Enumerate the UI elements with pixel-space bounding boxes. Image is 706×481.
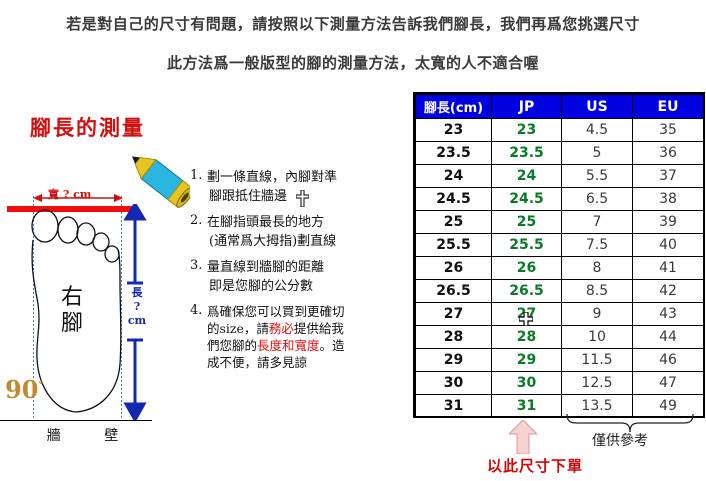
step-4-line-2: 的size，請務必提供給我 [207,320,405,337]
cell-us: 11.5 [562,349,633,372]
cell-us: 7 [562,211,633,234]
cell-foot-length: 28 [416,326,492,349]
table-row: 2525739 [416,211,704,234]
cell-foot-length: 29 [416,349,492,372]
header-line-2: 此方法爲一般版型的腳的測量方法，太寬的人不適合喔 [0,52,706,73]
length-label: 長 ? cm [126,286,148,328]
header-instructions: 若是對自己的尺寸有問題，請按照以下測量方法告訴我們腳長，我們再爲您挑選尺寸 此方… [0,0,706,73]
step-4-highlight-2: 長度和寬度 [257,338,320,353]
column-header-foot-length: 腳長(cm) [416,95,492,119]
step-item-4: 4. 爲確保您可以買到更確切 的size，請務必提供給我 們您腳的長度和寬度。造… [190,303,405,371]
column-header-us: US [562,95,633,119]
step-3-line-2: 即是您腳的公分數 [207,277,405,296]
cell-jp: 24 [492,165,562,188]
step-item-2: 2. 在腳指頭最長的地方 (通常爲大拇指)劃直線 [190,213,405,251]
table-row: 23.523.5536 [416,142,704,165]
order-note: 以此尺寸下單 [487,455,583,476]
table-header-row: 腳長(cm) JP US EU [416,95,704,119]
crosshair-cursor [519,312,533,326]
cell-eu: 44 [633,326,704,349]
column-header-jp: JP [492,95,562,119]
cell-jp: 31 [492,395,562,418]
step-number-4: 4. [190,303,207,371]
length-label-line-1: 長 [126,286,148,300]
cell-eu: 39 [633,211,704,234]
cell-us: 5 [562,142,633,165]
foot-side-label: 右 腳 [57,285,87,337]
cell-us: 4.5 [562,119,633,142]
cell-eu: 35 [633,119,704,142]
cell-jp: 25 [492,211,562,234]
length-label-line-3: cm [126,314,148,328]
angle-value: 90 [5,375,38,404]
cell-jp: 29 [492,349,562,372]
cell-eu: 36 [633,142,704,165]
table-row: 28281044 [416,326,704,349]
step-3-line-1: 量直線到牆腳的距離 [207,258,405,277]
table-row: 2727943 [416,303,704,326]
up-arrow-icon [509,420,537,454]
step-2-line-2: (通常爲大拇指)劃直線 [207,232,405,251]
step-4-line-3: 們您腳的長度和寬度。造 [207,337,405,354]
cell-eu: 38 [633,188,704,211]
cell-foot-length: 26.5 [416,280,492,303]
cell-us: 5.5 [562,165,633,188]
table-row: 303012.547 [416,372,704,395]
step-number-1: 1. [190,168,207,206]
table-row: 2626841 [416,257,704,280]
diagram-title: 腳長的測量 [30,112,145,142]
wall-baseline [0,420,152,421]
cell-jp: 25.5 [492,234,562,257]
cell-foot-length: 23 [416,119,492,142]
step-number-2: 2. [190,213,207,251]
cell-jp: 26 [492,257,562,280]
cell-foot-length: 26 [416,257,492,280]
cell-jp: 24.5 [492,188,562,211]
angle-degree-symbol: ° [38,379,44,392]
pencil-icon [122,156,190,222]
crosshair-cursor [296,190,309,207]
cell-foot-length: 25 [416,211,492,234]
cell-eu: 42 [633,280,704,303]
wall-labels: 牆 壁 [25,425,140,445]
step-number-3: 3. [190,258,207,296]
cell-foot-length: 27 [416,303,492,326]
shoe-size-table: 腳長(cm) JP US EU 23234.53523.523.55362424… [415,94,704,418]
width-label: 寬 ? cm [48,186,91,202]
cell-jp: 30 [492,372,562,395]
cell-jp: 26.5 [492,280,562,303]
cell-eu: 43 [633,303,704,326]
reference-note: 僅供參考 [592,430,648,450]
right-angle-marker: 90° [5,375,44,404]
step-1-line-1: 劃一條直線，內腳對準 [207,168,405,187]
table-row: 26.526.58.542 [416,280,704,303]
table-row: 292911.546 [416,349,704,372]
foot-label-line-2: 腳 [57,311,87,337]
column-header-eu: EU [633,95,704,119]
header-line-1: 若是對自己的尺寸有問題，請按照以下測量方法告訴我們腳長，我們再爲您挑選尺寸 [0,13,706,34]
cell-eu: 46 [633,349,704,372]
cell-us: 9 [562,303,633,326]
cell-eu: 37 [633,165,704,188]
table-row: 24.524.56.538 [416,188,704,211]
cell-us: 12.5 [562,372,633,395]
shoe-size-table-wrap: 腳長(cm) JP US EU 23234.53523.523.55362424… [415,94,703,418]
step-item-3: 3. 量直線到牆腳的距離 即是您腳的公分數 [190,258,405,296]
cell-foot-length: 24.5 [416,188,492,211]
step-4-highlight-1: 務必 [269,321,294,336]
cell-foot-length: 31 [416,395,492,418]
cell-foot-length: 30 [416,372,492,395]
cell-us: 10 [562,326,633,349]
cell-jp: 23.5 [492,142,562,165]
step-4-line-1: 爲確保您可以買到更確切 [207,303,405,320]
cell-jp: 23 [492,119,562,142]
step-2-line-1: 在腳指頭最長的地方 [207,213,405,232]
step-4-line-4: 成不便，請多見諒 [207,354,405,371]
wall-label-1: 牆 [47,425,61,445]
table-row: 23234.535 [416,119,704,142]
cell-jp: 28 [492,326,562,349]
wall-label-2: 壁 [104,425,118,445]
foot-label-line-1: 右 [57,285,87,311]
cell-us: 8.5 [562,280,633,303]
table-row: 24245.537 [416,165,704,188]
cell-foot-length: 24 [416,165,492,188]
cell-eu: 40 [633,234,704,257]
table-row: 25.525.57.540 [416,234,704,257]
cell-eu: 47 [633,372,704,395]
length-label-line-2: ? [126,300,148,314]
cell-foot-length: 23.5 [416,142,492,165]
cell-us: 8 [562,257,633,280]
foot-measurement-diagram: 腳長的測量 寬 ? cm 右 腳 [0,100,200,460]
cell-us: 7.5 [562,234,633,257]
cell-foot-length: 25.5 [416,234,492,257]
cell-us: 6.5 [562,188,633,211]
table-body: 23234.53523.523.553624245.53724.524.56.5… [416,119,704,418]
cell-eu: 41 [633,257,704,280]
